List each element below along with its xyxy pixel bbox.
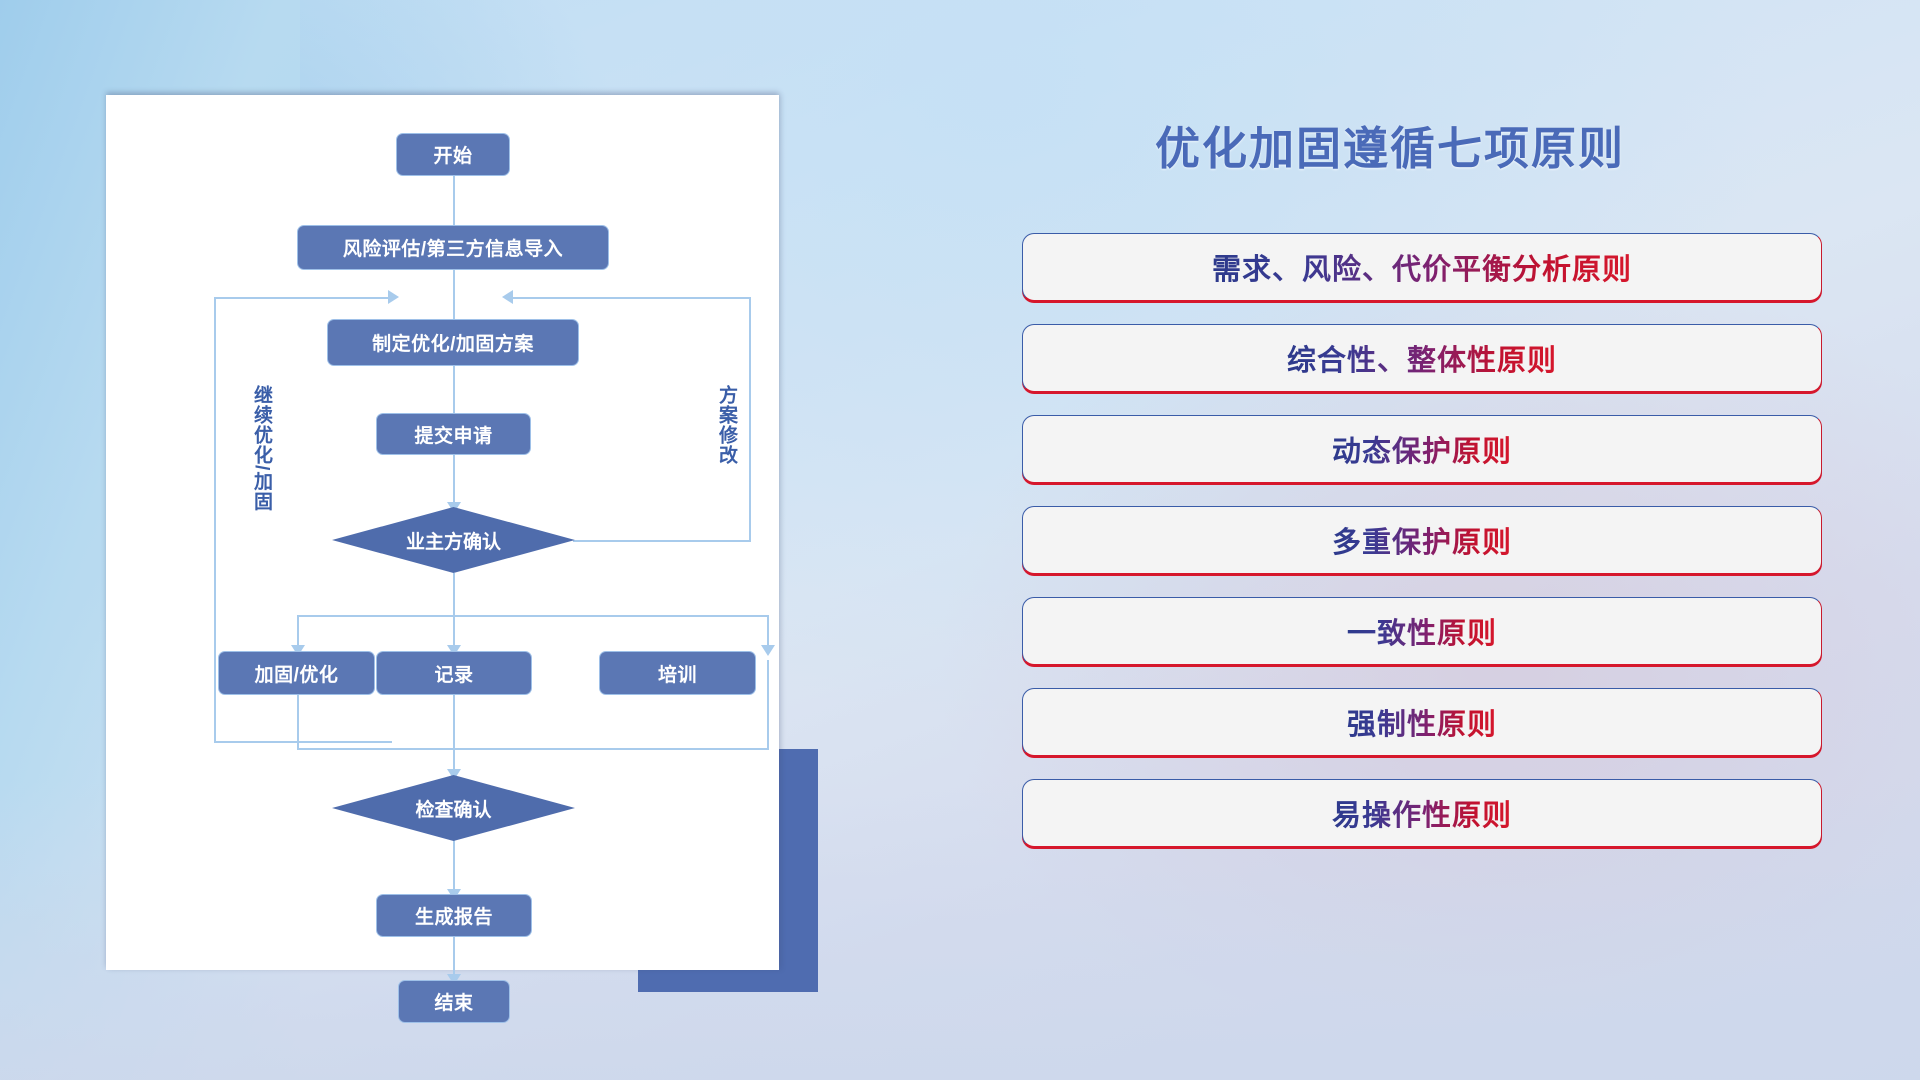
connector-right-loop-in xyxy=(512,297,751,299)
flow-node-training-label: 培训 xyxy=(658,660,697,687)
connector-owner-right xyxy=(573,540,750,542)
connector-owner-down xyxy=(453,573,455,617)
flow-node-submit-label: 提交申请 xyxy=(414,421,492,448)
principle-item[interactable]: 动态保护原则 xyxy=(1022,415,1822,483)
flow-node-reinforce: 加固/优化 xyxy=(218,651,375,695)
principle-item-label: 一致性原则 xyxy=(1347,610,1497,652)
flow-node-end: 结束 xyxy=(398,980,510,1023)
flow-node-plan: 制定优化/加固方案 xyxy=(327,319,579,366)
flow-node-submit: 提交申请 xyxy=(376,413,531,455)
connector-submit-to-owner xyxy=(453,455,455,507)
flow-node-report: 生成报告 xyxy=(376,894,532,937)
flowchart-card: 开始 风险评估/第三方信息导入 制定优化/加固方案 提交申请 业主方确认 加固/… xyxy=(106,95,779,970)
flow-node-owner-confirm: 业主方确认 xyxy=(332,507,575,573)
arrowhead-plan-right xyxy=(502,290,513,304)
flow-node-owner-confirm-label: 业主方确认 xyxy=(332,507,575,573)
connector-merge-right xyxy=(767,660,769,750)
flow-node-plan-label: 制定优化/加固方案 xyxy=(372,329,534,356)
principle-item-label: 动态保护原则 xyxy=(1332,428,1512,470)
principle-item-label: 强制性原则 xyxy=(1347,701,1497,743)
principle-item-label: 需求、风险、代价平衡分析原则 xyxy=(1212,246,1632,288)
principle-item[interactable]: 多重保护原则 xyxy=(1022,506,1822,574)
connector-branch-bus xyxy=(297,615,768,617)
connector-merge-bus xyxy=(297,748,768,750)
flow-node-training: 培训 xyxy=(599,651,756,695)
flow-node-record-label: 记录 xyxy=(434,660,473,687)
edge-label-continue-optimize: 继续优化/加固 xyxy=(248,385,275,511)
connector-check-to-report xyxy=(453,840,455,895)
flow-node-start: 开始 xyxy=(396,133,510,176)
connector-left-loop-up xyxy=(214,297,216,743)
principle-item-label: 多重保护原则 xyxy=(1332,519,1512,561)
flow-node-report-label: 生成报告 xyxy=(415,902,493,929)
connector-right-loop-up xyxy=(749,297,751,542)
principle-item[interactable]: 综合性、整体性原则 xyxy=(1022,324,1822,392)
connector-left-loop-in xyxy=(214,297,389,299)
flow-node-risk-assessment: 风险评估/第三方信息导入 xyxy=(297,225,609,270)
arrowhead-plan-left xyxy=(388,290,399,304)
principle-item-label: 易操作性原则 xyxy=(1332,792,1512,834)
principle-item[interactable]: 强制性原则 xyxy=(1022,688,1822,756)
connector-check-left xyxy=(214,741,392,743)
connector-plan-to-submit xyxy=(453,366,455,419)
principle-item-label: 综合性、整体性原则 xyxy=(1287,337,1557,379)
flow-node-end-label: 结束 xyxy=(434,988,473,1015)
principles-panel-title: 优化加固遵循七项原则 xyxy=(1155,112,1625,177)
principle-item[interactable]: 易操作性原则 xyxy=(1022,779,1822,847)
flow-node-check-confirm: 检查确认 xyxy=(332,775,575,841)
principle-item[interactable]: 需求、风险、代价平衡分析原则 xyxy=(1022,233,1822,301)
flow-node-check-confirm-label: 检查确认 xyxy=(332,775,575,841)
principle-item[interactable]: 一致性原则 xyxy=(1022,597,1822,665)
principles-list: 需求、风险、代价平衡分析原则 综合性、整体性原则 动态保护原则 多重保护原则 一… xyxy=(1022,233,1822,870)
flow-node-reinforce-label: 加固/优化 xyxy=(255,660,339,687)
edge-label-plan-revision: 方案修改 xyxy=(713,385,740,465)
flow-node-record: 记录 xyxy=(376,651,532,695)
flow-node-risk-assessment-label: 风险评估/第三方信息导入 xyxy=(343,234,563,261)
arrowhead-train xyxy=(761,645,775,656)
flow-node-start-label: 开始 xyxy=(433,141,472,168)
